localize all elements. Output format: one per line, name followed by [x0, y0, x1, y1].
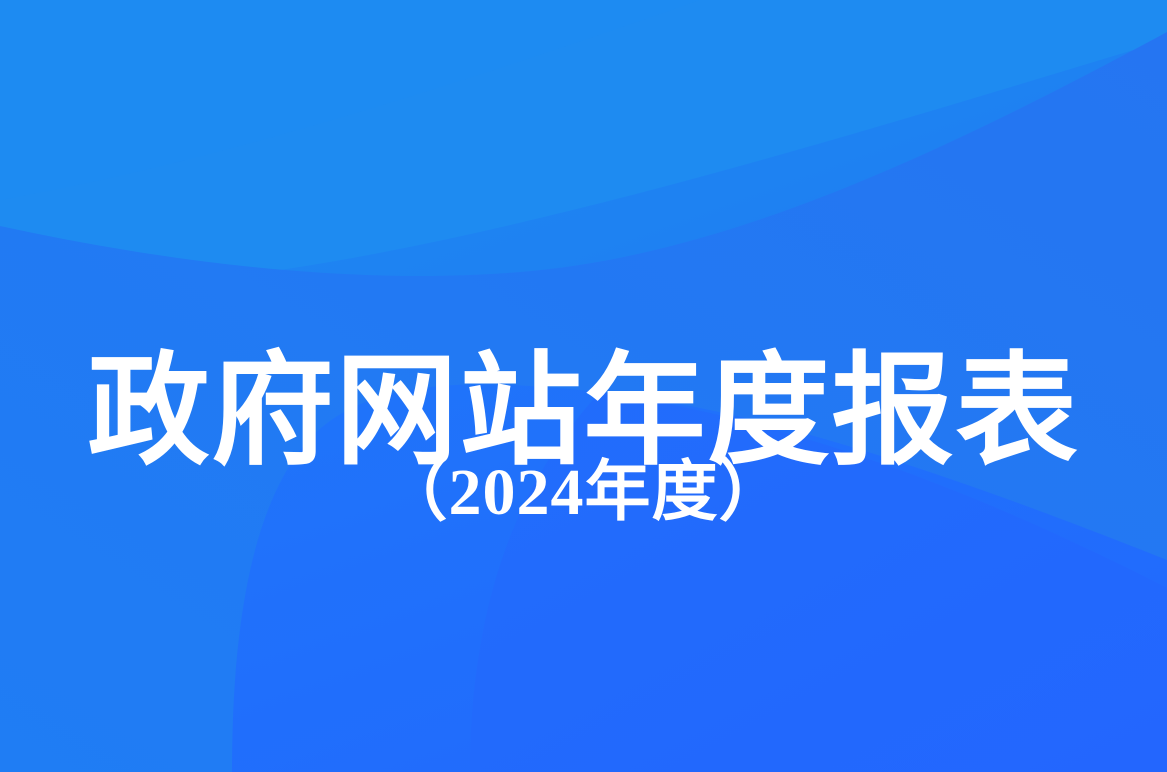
page-title: 政府网站年度报表 — [0, 350, 1167, 472]
poster-text-block: 政府网站年度报表 （2024年度） — [0, 0, 1167, 772]
poster-canvas: 政府网站年度报表 （2024年度） — [0, 0, 1167, 772]
page-subtitle: （2024年度） — [0, 455, 1167, 531]
